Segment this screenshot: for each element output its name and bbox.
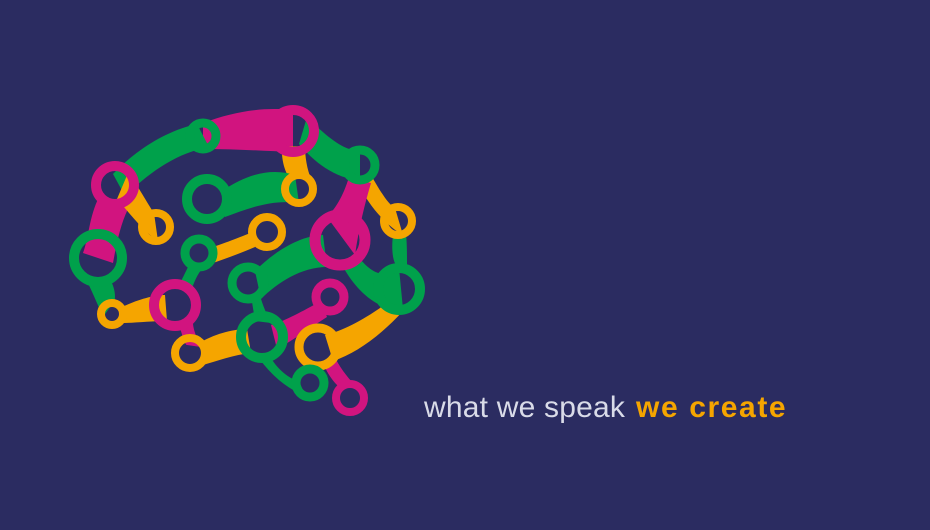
tagline: what we speak we create (424, 388, 787, 428)
node-green-bottom (296, 369, 324, 397)
brain-logo-svg (55, 95, 435, 435)
tagline-light-text: what we speak (424, 391, 625, 425)
node-green-mid-upper (187, 179, 227, 219)
splash-canvas: what we speak we create (0, 0, 930, 530)
node-orange-lower-left (101, 303, 123, 325)
node-magenta-bottom (336, 384, 364, 412)
tagline-accent-text: we create (636, 391, 787, 425)
brain-network-logo (55, 95, 435, 435)
node-green-mid-left (185, 239, 213, 267)
node-orange-center (252, 217, 282, 247)
logo-nodes (74, 110, 420, 412)
node-magenta-lower-mid (316, 283, 344, 311)
